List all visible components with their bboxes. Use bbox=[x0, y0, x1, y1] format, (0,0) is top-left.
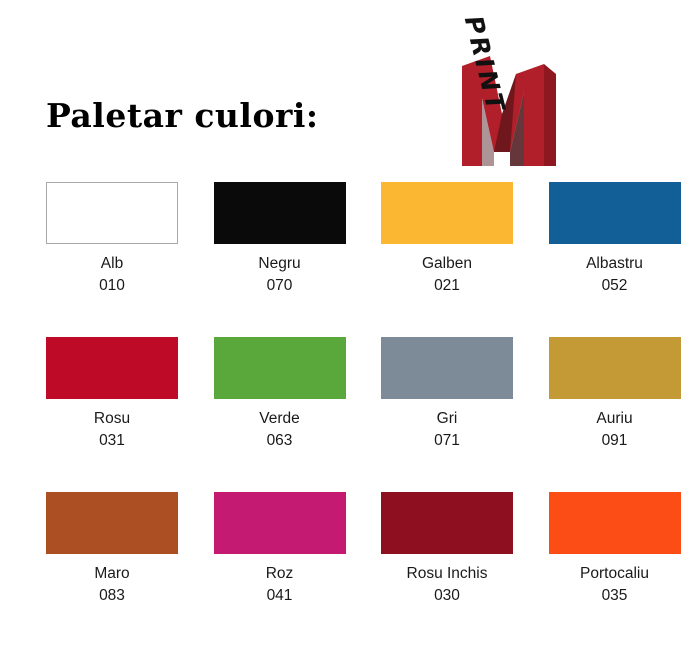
swatch-code: 041 bbox=[214, 585, 346, 607]
swatch-roz[interactable]: Roz 041 bbox=[214, 492, 366, 647]
swatch-chip[interactable] bbox=[214, 337, 346, 399]
swatch-name: Verde bbox=[214, 408, 346, 430]
swatch-chip[interactable] bbox=[214, 492, 346, 554]
header: Paletar culori: PRINT bbox=[0, 0, 700, 180]
swatch-name: Alb bbox=[46, 253, 178, 275]
swatch-code: 063 bbox=[214, 430, 346, 452]
swatch-name: Negru bbox=[214, 253, 346, 275]
swatch-negru[interactable]: Negru 070 bbox=[214, 182, 366, 337]
swatch-code: 083 bbox=[46, 585, 178, 607]
palette-row: Rosu 031 Verde 063 Gri 071 Auriu 091 bbox=[0, 337, 700, 492]
swatch-name: Rosu bbox=[46, 408, 178, 430]
swatch-code: 030 bbox=[381, 585, 513, 607]
swatch-code: 070 bbox=[214, 275, 346, 297]
swatch-maro[interactable]: Maro 083 bbox=[46, 492, 198, 647]
swatch-name: Galben bbox=[381, 253, 513, 275]
swatch-chip[interactable] bbox=[46, 337, 178, 399]
page-title: Paletar culori: bbox=[46, 96, 319, 135]
palette-row: Alb 010 Negru 070 Galben 021 Albastru 05… bbox=[0, 182, 700, 337]
swatch-verde[interactable]: Verde 063 bbox=[214, 337, 366, 492]
swatch-code: 091 bbox=[549, 430, 681, 452]
swatch-code: 021 bbox=[381, 275, 513, 297]
swatch-chip[interactable] bbox=[549, 492, 681, 554]
swatch-albastru[interactable]: Albastru 052 bbox=[549, 182, 700, 337]
palette-grid: Alb 010 Negru 070 Galben 021 Albastru 05… bbox=[0, 182, 700, 647]
swatch-rosu[interactable]: Rosu 031 bbox=[46, 337, 198, 492]
mprint-logo: PRINT bbox=[424, 28, 574, 174]
swatch-name: Roz bbox=[214, 563, 346, 585]
swatch-chip[interactable] bbox=[381, 337, 513, 399]
swatch-chip[interactable] bbox=[381, 182, 513, 244]
swatch-code: 031 bbox=[46, 430, 178, 452]
swatch-code: 010 bbox=[46, 275, 178, 297]
swatch-code: 035 bbox=[549, 585, 681, 607]
swatch-portocaliu[interactable]: Portocaliu 035 bbox=[549, 492, 700, 647]
swatch-galben[interactable]: Galben 021 bbox=[381, 182, 533, 337]
swatch-chip[interactable] bbox=[549, 182, 681, 244]
swatch-name: Rosu Inchis bbox=[381, 563, 513, 585]
swatch-chip[interactable] bbox=[46, 182, 178, 244]
swatch-code: 071 bbox=[381, 430, 513, 452]
color-palette-page: Paletar culori: PRINT Alb 010 Negru bbox=[0, 0, 700, 658]
swatch-auriu[interactable]: Auriu 091 bbox=[549, 337, 700, 492]
palette-row: Maro 083 Roz 041 Rosu Inchis 030 Portoca… bbox=[0, 492, 700, 647]
swatch-chip[interactable] bbox=[381, 492, 513, 554]
swatch-chip[interactable] bbox=[549, 337, 681, 399]
swatch-alb[interactable]: Alb 010 bbox=[46, 182, 198, 337]
swatch-name: Gri bbox=[381, 408, 513, 430]
swatch-name: Auriu bbox=[549, 408, 681, 430]
swatch-name: Maro bbox=[46, 563, 178, 585]
swatch-rosu-inchis[interactable]: Rosu Inchis 030 bbox=[381, 492, 533, 647]
swatch-name: Albastru bbox=[549, 253, 681, 275]
swatch-chip[interactable] bbox=[214, 182, 346, 244]
swatch-name: Portocaliu bbox=[549, 563, 681, 585]
swatch-gri[interactable]: Gri 071 bbox=[381, 337, 533, 492]
swatch-chip[interactable] bbox=[46, 492, 178, 554]
swatch-code: 052 bbox=[549, 275, 681, 297]
